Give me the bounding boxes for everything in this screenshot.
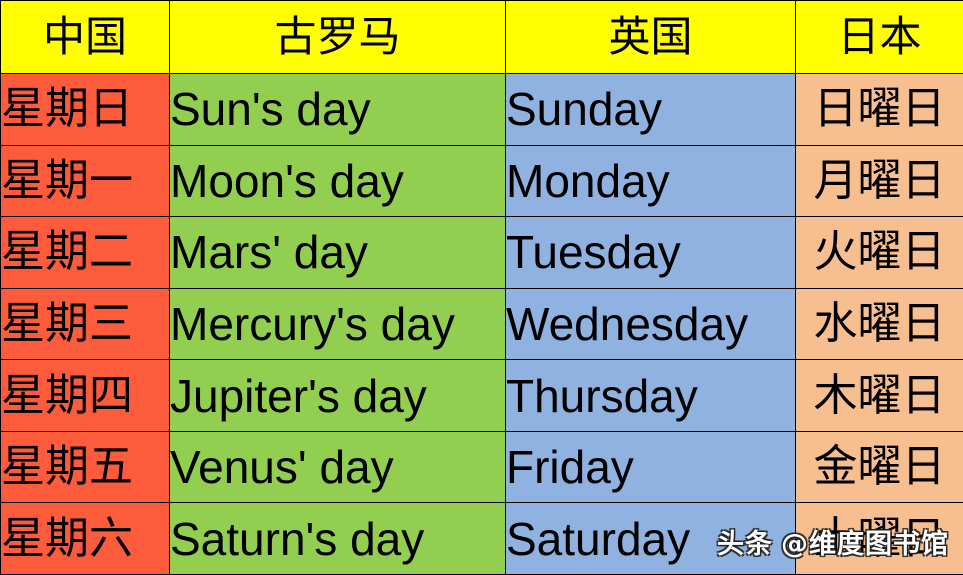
cell-english: Saturday: [506, 503, 796, 575]
cell-roman: Saturn's day: [170, 503, 506, 575]
table-row: 星期四 Jupiter's day Thursday 木曜日: [1, 360, 963, 432]
cell-chinese: 星期四: [1, 360, 170, 432]
cell-roman: Venus' day: [170, 431, 506, 503]
cell-chinese: 星期一: [1, 145, 170, 217]
weekday-translation-table-image: 中国 古罗马 英国 日本 星期日 Sun's day Sunday 日曜日 星期…: [0, 0, 963, 575]
cell-english: Wednesday: [506, 288, 796, 360]
cell-roman: Mercury's day: [170, 288, 506, 360]
table-row: 星期日 Sun's day Sunday 日曜日: [1, 74, 963, 146]
column-header-english: 英国: [506, 1, 796, 74]
column-header-japanese: 日本: [796, 1, 963, 74]
table-header: 中国 古罗马 英国 日本: [1, 1, 963, 74]
cell-english: Monday: [506, 145, 796, 217]
weekday-translation-table: 中国 古罗马 英国 日本 星期日 Sun's day Sunday 日曜日 星期…: [0, 0, 963, 575]
cell-japanese: 火曜日: [796, 217, 963, 289]
cell-english: Thursday: [506, 360, 796, 432]
table-row: 星期三 Mercury's day Wednesday 水曜日: [1, 288, 963, 360]
column-header-chinese: 中国: [1, 1, 170, 74]
header-row: 中国 古罗马 英国 日本: [1, 1, 963, 74]
cell-english: Sunday: [506, 74, 796, 146]
cell-roman: Jupiter's day: [170, 360, 506, 432]
cell-japanese: 金曜日: [796, 431, 963, 503]
cell-english: Tuesday: [506, 217, 796, 289]
cell-chinese: 星期二: [1, 217, 170, 289]
table-row: 星期二 Mars' day Tuesday 火曜日: [1, 217, 963, 289]
cell-japanese: 水曜日: [796, 288, 963, 360]
table-row: 星期六 Saturn's day Saturday 土曜日: [1, 503, 963, 575]
table-body: 星期日 Sun's day Sunday 日曜日 星期一 Moon's day …: [1, 74, 963, 575]
cell-chinese: 星期六: [1, 503, 170, 575]
table-row: 星期五 Venus' day Friday 金曜日: [1, 431, 963, 503]
cell-roman: Moon's day: [170, 145, 506, 217]
cell-english: Friday: [506, 431, 796, 503]
cell-japanese: 土曜日: [796, 503, 963, 575]
table-row: 星期一 Moon's day Monday 月曜日: [1, 145, 963, 217]
cell-chinese: 星期三: [1, 288, 170, 360]
cell-chinese: 星期日: [1, 74, 170, 146]
cell-chinese: 星期五: [1, 431, 170, 503]
cell-japanese: 木曜日: [796, 360, 963, 432]
column-header-roman: 古罗马: [170, 1, 506, 74]
cell-roman: Sun's day: [170, 74, 506, 146]
cell-japanese: 日曜日: [796, 74, 963, 146]
cell-japanese: 月曜日: [796, 145, 963, 217]
cell-roman: Mars' day: [170, 217, 506, 289]
